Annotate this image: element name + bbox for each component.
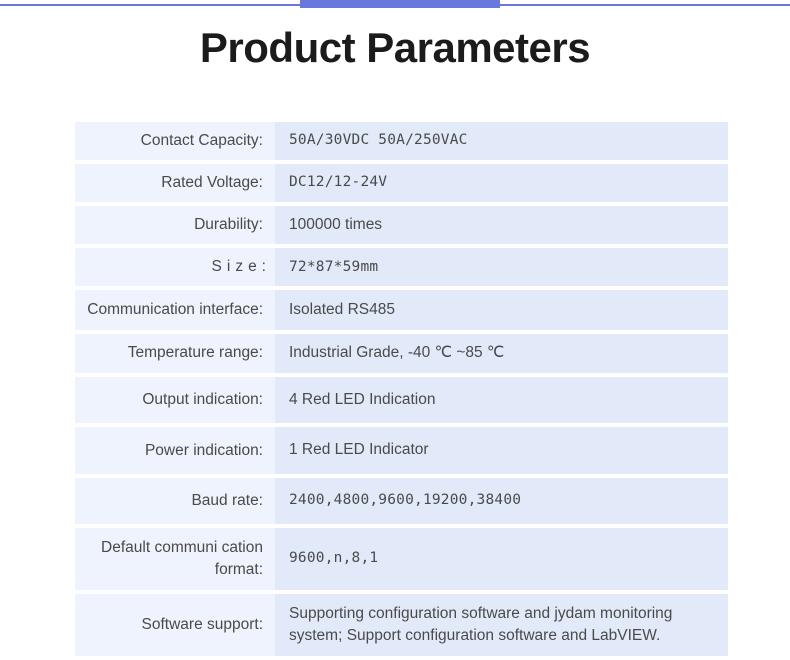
row-value: 100000 times — [275, 206, 728, 245]
row-value: Supporting configuration software and jy… — [275, 594, 728, 656]
row-label: Temperature range: — [75, 334, 275, 373]
row-label: Output indication: — [75, 377, 275, 424]
row-label: Communication interface: — [75, 290, 275, 330]
product-parameters-table: Contact Capacity: 50A/30VDC 50A/250VAC R… — [75, 118, 728, 660]
row-label: Baud rate: — [75, 478, 275, 524]
row-label: Rated Voltage: — [75, 164, 275, 202]
row-label: Durability: — [75, 206, 275, 245]
row-value: 9600,n,8,1 — [275, 528, 728, 590]
row-value: Industrial Grade, -40 ℃ ~85 ℃ — [275, 334, 728, 373]
table-row: Size: 72*87*59mm — [75, 248, 728, 286]
table-row: Output indication: 4 Red LED Indication — [75, 377, 728, 424]
table-row: Software support: Supporting configurati… — [75, 594, 728, 656]
table-row: Durability: 100000 times — [75, 206, 728, 245]
table-row: Power indication: 1 Red LED Indicator — [75, 427, 728, 474]
table-row: Rated Voltage: DC12/12-24V — [75, 164, 728, 202]
row-value: 1 Red LED Indicator — [275, 427, 728, 474]
page-title: Product Parameters — [0, 24, 790, 72]
row-label: Default communi cation format: — [75, 528, 275, 590]
table-row: Baud rate: 2400,4800,9600,19200,38400 — [75, 478, 728, 524]
row-value: 4 Red LED Indication — [275, 377, 728, 424]
row-value: 72*87*59mm — [275, 248, 728, 286]
table-row: Communication interface: Isolated RS485 — [75, 290, 728, 330]
row-value: 50A/30VDC 50A/250VAC — [275, 122, 728, 160]
row-label: Contact Capacity: — [75, 122, 275, 160]
table-row: Contact Capacity: 50A/30VDC 50A/250VAC — [75, 122, 728, 160]
row-value: 2400,4800,9600,19200,38400 — [275, 478, 728, 524]
table-row: Default communi cation format: 9600,n,8,… — [75, 528, 728, 590]
row-label: Power indication: — [75, 427, 275, 474]
table-row: Temperature range: Industrial Grade, -40… — [75, 334, 728, 373]
row-value: Isolated RS485 — [275, 290, 728, 330]
row-label: Software support: — [75, 594, 275, 656]
header-accent-bar — [300, 0, 500, 8]
row-value: DC12/12-24V — [275, 164, 728, 202]
row-label: Size: — [75, 248, 275, 286]
